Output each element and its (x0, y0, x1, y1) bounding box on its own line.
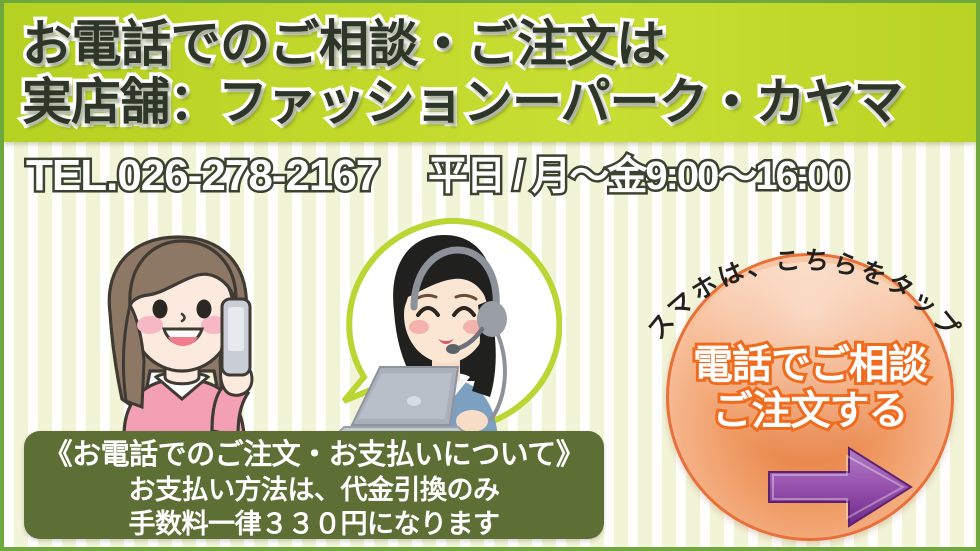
cta-label-line-2: ご注文する (669, 388, 951, 434)
cta-label-line-1: 電話でご相談 (669, 342, 951, 388)
call-cta-button[interactable]: 電話でご相談 ご注文する (666, 253, 954, 541)
payment-note-box: 《お電話でのご注文・お支払いについて》 お支払い方法は、代金引換のみ 手数料一律… (24, 431, 604, 539)
payment-note-title: 《お電話でのご注文・お支払いについて》 (24, 437, 604, 473)
telephone-number[interactable]: TEL.026-278-2167 (26, 150, 379, 202)
header-band: お電話でのご相談・ご注文は 実店舗：ファッションーパーク・カヤマ (4, 3, 976, 142)
call-cta-zone[interactable]: スマホは、こちらをタップ 電話でご相談 ご注文する (634, 217, 974, 547)
payment-note-line-3: 手数料一律３３０円になります (24, 507, 604, 541)
woman-on-phone-illustration (72, 221, 292, 436)
header-line-1: お電話でのご相談・ご注文は (22, 15, 666, 73)
business-hours: 平日 / 月〜金9:00〜16:00 (428, 150, 848, 202)
phone-order-promo-banner: お電話でのご相談・ご注文は 実店舗：ファッションーパーク・カヤマ TEL.026… (0, 0, 980, 551)
right-arrow-icon (765, 444, 915, 530)
operator-speech-bubble (322, 215, 562, 441)
header-line-2: 実店舗：ファッションーパーク・カヤマ (22, 73, 903, 131)
payment-note-line-2: お支払い方法は、代金引換のみ (24, 473, 604, 507)
contact-row: TEL.026-278-2167 平日 / 月〜金9:00〜16:00 (4, 146, 976, 208)
